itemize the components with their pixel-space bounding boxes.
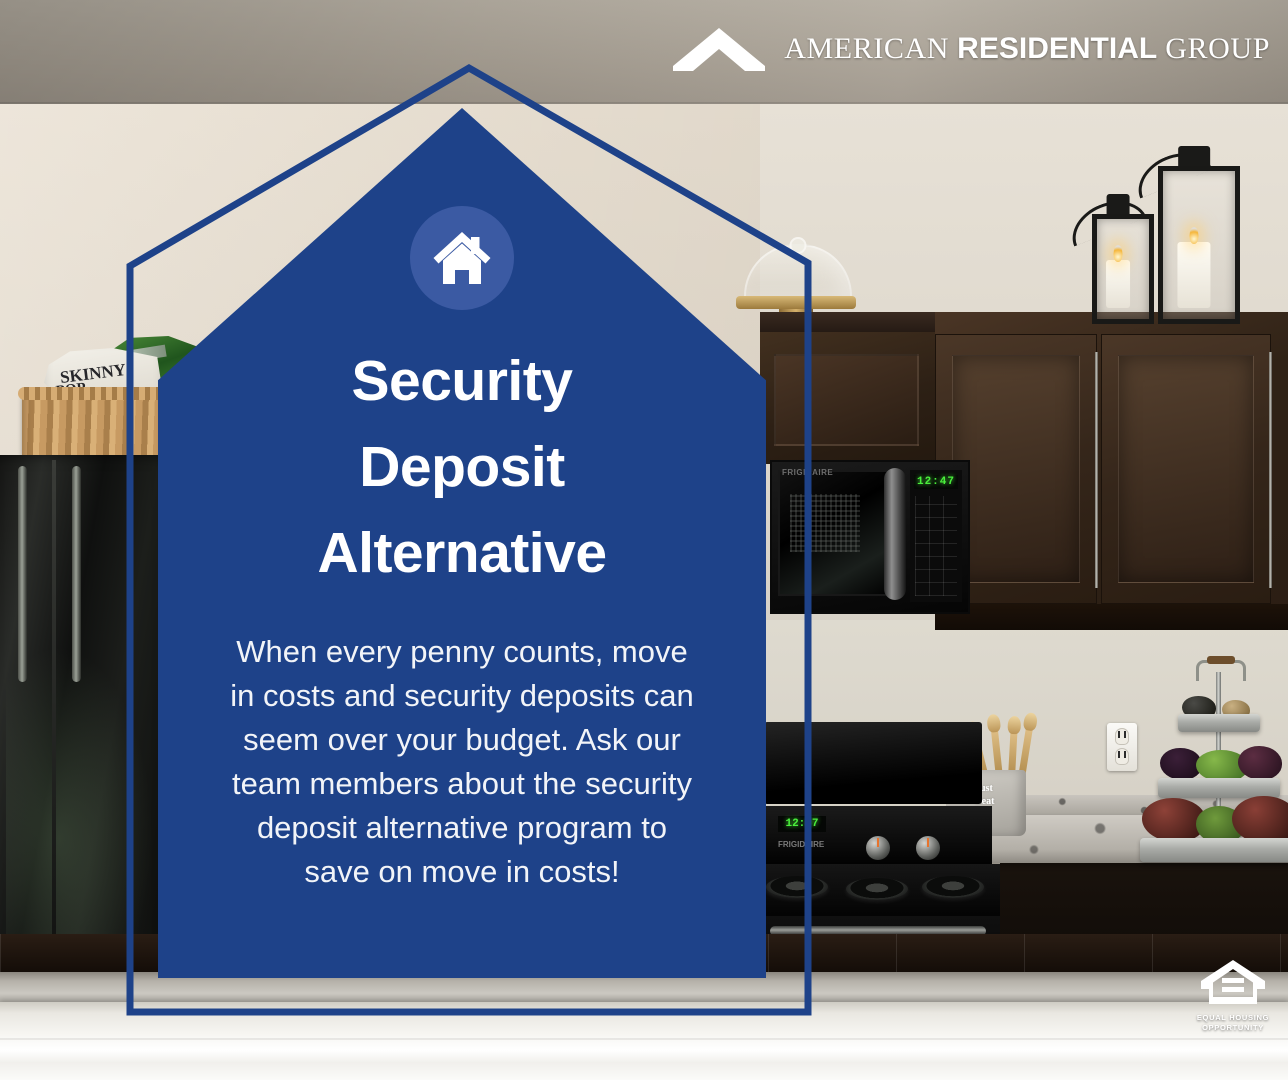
headline-line-3: Alternative (182, 510, 742, 596)
house-icon (431, 229, 493, 287)
body-line-1: When every penny counts, move (190, 630, 735, 674)
brand-word-group: GROUP (1165, 32, 1270, 65)
body-copy: When every penny counts, move in costs a… (190, 630, 735, 894)
promotional-graphic: SKINNY POP (0, 0, 1288, 1080)
equal-housing-text: EQUAL HOUSING OPPORTUNITY (1194, 1013, 1272, 1032)
headline: Security Deposit Alternative (182, 338, 742, 596)
body-line-2: in costs and security deposits can (190, 674, 735, 718)
brand-logo[interactable]: AMERICAN RESIDENTIAL GROUP (672, 26, 1270, 72)
equal-housing-house-icon (1200, 959, 1266, 1005)
brand-wordmark: AMERICAN RESIDENTIAL GROUP (784, 32, 1270, 66)
brand-word-residential: RESIDENTIAL (957, 32, 1157, 65)
eho-line-1: EQUAL HOUSING (1194, 1013, 1272, 1023)
body-line-5: deposit alternative program to (190, 806, 735, 850)
eho-line-2: OPPORTUNITY (1194, 1023, 1272, 1033)
card-content: Security Deposit Alternative When every … (158, 108, 766, 978)
headline-line-2: Deposit (182, 424, 742, 510)
body-line-6: save on move in costs! (190, 850, 735, 894)
equal-housing-opportunity-logo: EQUAL HOUSING OPPORTUNITY (1194, 959, 1272, 1032)
headline-line-1: Security (182, 338, 742, 424)
chevron-roof-icon (672, 26, 766, 72)
body-line-3: seem over your budget. Ask our (190, 718, 735, 762)
house-icon-badge (410, 206, 514, 310)
body-line-4: team members about the security (190, 762, 735, 806)
brand-word-american: AMERICAN (784, 32, 949, 65)
